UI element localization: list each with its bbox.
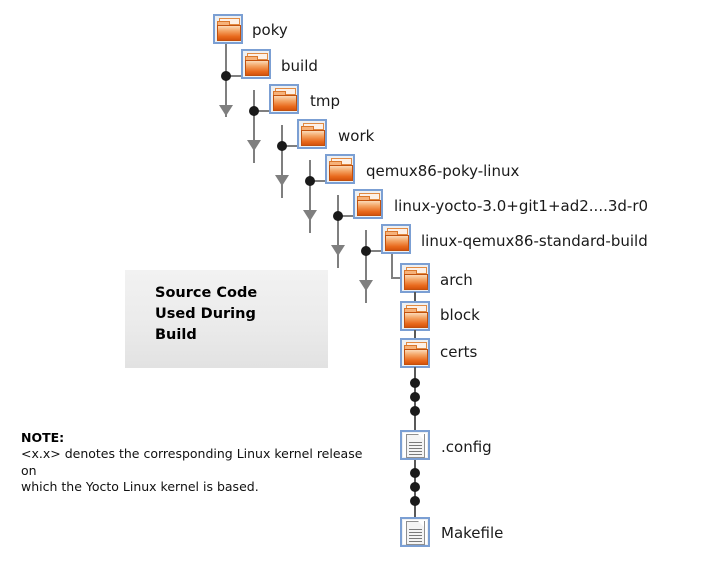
- folder-body: [273, 95, 297, 111]
- folder-body: [357, 200, 381, 216]
- note-body: <x.x> denotes the corresponding Linux ke…: [21, 446, 381, 496]
- folder-body: [301, 130, 325, 146]
- document-line: [409, 454, 422, 455]
- arrow-head-work: [303, 210, 317, 221]
- folder-glyph: [384, 227, 408, 251]
- ellipsis-dot-5: [410, 482, 420, 492]
- node-label-block: block: [440, 308, 480, 323]
- folder-glyph: [244, 52, 268, 76]
- node-label-linux-yocto: linux-yocto-3.0+git1+ad2....3d-r0: [394, 199, 648, 214]
- folder-icon-block[interactable]: [400, 301, 430, 331]
- node-label-qemux86-poky-linux: qemux86-poky-linux: [366, 164, 519, 179]
- node-dot-work: [277, 141, 287, 151]
- document-line: [409, 529, 422, 530]
- node-label-poky: poky: [252, 23, 288, 38]
- ellipsis-dot-4: [410, 468, 420, 478]
- document-line: [409, 538, 422, 539]
- document-fold-corner: [418, 434, 424, 440]
- document-line: [409, 445, 422, 446]
- folder-icon-tmp[interactable]: [269, 84, 299, 114]
- folder-body: [385, 235, 409, 251]
- folder-icon-qemux86-poky-linux[interactable]: [325, 154, 355, 184]
- source-code-callout-box: Source Code Used During Build: [125, 270, 328, 368]
- arrow-head-build: [247, 140, 261, 151]
- folder-body: [217, 25, 241, 41]
- node-dot-qemux86: [305, 176, 315, 186]
- node-dot-build: [221, 71, 231, 81]
- file-icon-dotconfig[interactable]: [400, 430, 430, 460]
- folder-body: [404, 349, 428, 365]
- document-line: [409, 442, 422, 443]
- folder-glyph: [356, 192, 380, 216]
- note-block: NOTE: <x.x> denotes the corresponding Li…: [21, 430, 381, 496]
- ellipsis-dot-2: [410, 392, 420, 402]
- node-label-arch: arch: [440, 273, 473, 288]
- source-code-callout-text: Source Code Used During Build: [155, 283, 257, 346]
- document-line: [409, 448, 422, 449]
- folder-body: [329, 165, 353, 181]
- connector-line-qemux86: [337, 195, 339, 268]
- folder-icon-certs[interactable]: [400, 338, 430, 368]
- connector-line-linuxyocto: [365, 230, 367, 303]
- folder-icon-build[interactable]: [241, 49, 271, 79]
- node-label-linux-qemux86-standard-build: linux-qemux86-standard-build: [421, 234, 648, 249]
- connector-line-tmp: [281, 125, 283, 198]
- document-line: [409, 535, 422, 536]
- ellipsis-dot-6: [410, 496, 420, 506]
- folder-icon-poky[interactable]: [213, 14, 243, 44]
- document-line: [409, 532, 422, 533]
- folder-icon-linux-yocto[interactable]: [353, 189, 383, 219]
- folder-glyph: [300, 122, 324, 146]
- document-glyph: [403, 433, 427, 457]
- folder-glyph: [403, 341, 427, 365]
- document-fold-corner: [418, 521, 424, 527]
- folder-glyph: [216, 17, 240, 41]
- folder-glyph: [328, 157, 352, 181]
- folder-body: [404, 274, 428, 290]
- node-dot-tmp: [249, 106, 259, 116]
- folder-glyph: [403, 304, 427, 328]
- arrow-head-qemux86: [331, 245, 345, 256]
- directory-tree-diagram: poky build tmp work: [0, 0, 705, 581]
- file-icon-makefile[interactable]: [400, 517, 430, 547]
- document-glyph: [403, 520, 427, 544]
- folder-glyph: [403, 266, 427, 290]
- node-dot-linuxyocto: [333, 211, 343, 221]
- node-label-tmp: tmp: [310, 94, 340, 109]
- node-dot-standardbuild: [361, 246, 371, 256]
- connector-line-work: [309, 160, 311, 233]
- node-label-work: work: [338, 129, 374, 144]
- note-title: NOTE:: [21, 430, 381, 446]
- node-label-build: build: [281, 59, 318, 74]
- arrow-head-poky: [219, 105, 233, 116]
- node-label-makefile: Makefile: [441, 526, 503, 541]
- folder-body: [245, 60, 269, 76]
- node-label-certs: certs: [440, 345, 477, 360]
- ellipsis-dot-1: [410, 378, 420, 388]
- connector-elbow-vertical-arch: [391, 254, 393, 278]
- node-label-dotconfig: .config: [441, 440, 492, 455]
- folder-icon-linux-qemux86-standard-build[interactable]: [381, 224, 411, 254]
- folder-icon-work[interactable]: [297, 119, 327, 149]
- ellipsis-dot-3: [410, 406, 420, 416]
- arrow-head-linuxyocto: [359, 280, 373, 291]
- document-line: [409, 451, 422, 452]
- folder-glyph: [272, 87, 296, 111]
- folder-icon-arch[interactable]: [400, 263, 430, 293]
- arrow-head-tmp: [275, 175, 289, 186]
- document-line: [409, 541, 422, 542]
- folder-body: [404, 312, 428, 328]
- connector-line-build: [253, 90, 255, 163]
